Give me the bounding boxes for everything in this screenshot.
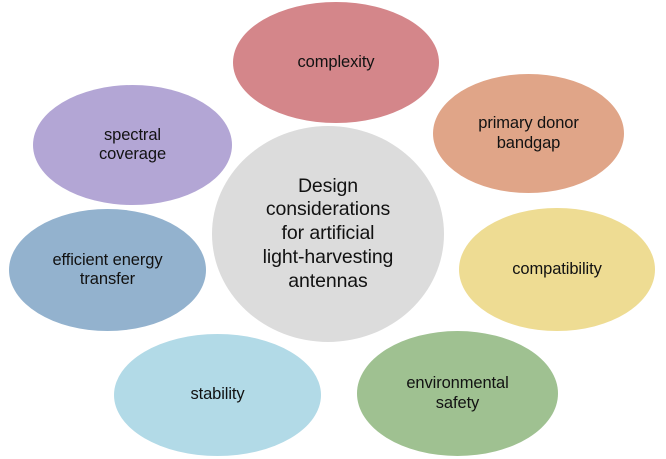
node-environmental-safety-label: environmental safety bbox=[400, 374, 514, 413]
node-compatibility[interactable]: compatibility bbox=[459, 208, 655, 331]
node-primary-donor-bandgap[interactable]: primary donor bandgap bbox=[433, 74, 624, 193]
node-stability[interactable]: stability bbox=[114, 334, 321, 456]
node-efficient-energy-transfer-label: efficient energy transfer bbox=[46, 251, 168, 290]
diagram-canvas: complexity primary donor bandgap compati… bbox=[0, 0, 666, 459]
node-primary-donor-bandgap-label: primary donor bandgap bbox=[472, 114, 585, 153]
node-complexity[interactable]: complexity bbox=[233, 2, 439, 123]
node-center-hub-label: Design considerations for artificial lig… bbox=[257, 175, 400, 294]
node-center-hub[interactable]: Design considerations for artificial lig… bbox=[212, 126, 444, 342]
node-spectral-coverage-label: spectral coverage bbox=[93, 126, 172, 165]
node-environmental-safety[interactable]: environmental safety bbox=[357, 331, 558, 456]
node-compatibility-label: compatibility bbox=[506, 260, 607, 279]
node-spectral-coverage[interactable]: spectral coverage bbox=[33, 85, 232, 205]
node-efficient-energy-transfer[interactable]: efficient energy transfer bbox=[9, 209, 206, 331]
node-stability-label: stability bbox=[184, 385, 250, 404]
node-complexity-label: complexity bbox=[292, 53, 381, 72]
